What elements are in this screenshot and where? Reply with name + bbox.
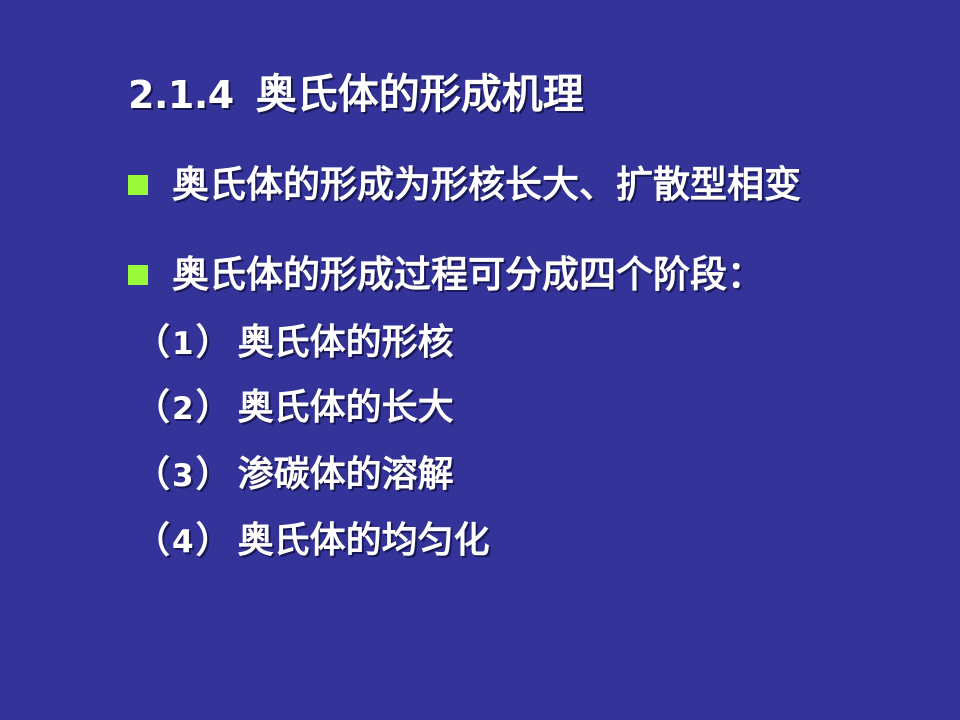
stage-number: 1: [170, 322, 196, 366]
stage-list-item-3: （ 3 ） 渗碳体的溶解: [134, 452, 454, 498]
stage-label: 渗碳体的溶解: [238, 452, 454, 496]
stage-list-item-1: （ 1 ） 奥氏体的形核: [134, 320, 454, 366]
stage-list-item-2: （ 2 ） 奥氏体的长大: [134, 385, 454, 431]
stage-paren-close: ）: [196, 518, 232, 562]
stage-label: 奥氏体的形核: [238, 320, 454, 364]
stage-list-item-4: （ 4 ） 奥氏体的均匀化: [134, 518, 490, 564]
stage-paren-open: （: [134, 452, 170, 496]
stage-paren-close: ）: [196, 320, 232, 364]
title-section-number: 2.1.4: [128, 73, 234, 117]
green-square-bullet-icon: [128, 175, 148, 195]
stage-number: 3: [170, 454, 196, 498]
bullet-item-2-label: 奥氏体的形成过程可分成四个阶段：: [172, 252, 764, 296]
title-heading-text: 奥氏体的形成机理: [256, 60, 584, 120]
stage-paren-open: （: [134, 385, 170, 429]
bullet-item-2: 奥氏体的形成过程可分成四个阶段：: [128, 252, 764, 296]
stage-number: 2: [170, 387, 196, 431]
green-square-bullet-icon: [128, 265, 148, 285]
presentation-slide: 2.1.4 奥氏体的形成机理 奥氏体的形成为形核长大、扩散型相变 奥氏体的形成过…: [0, 0, 960, 720]
stage-label: 奥氏体的长大: [238, 385, 454, 429]
page-title: 2.1.4 奥氏体的形成机理: [128, 60, 918, 120]
stage-label: 奥氏体的均匀化: [238, 518, 490, 562]
bullet-item-1-label: 奥氏体的形成为形核长大、扩散型相变: [172, 162, 801, 206]
stage-paren-open: （: [134, 320, 170, 364]
stage-paren-close: ）: [196, 452, 232, 496]
stage-paren-close: ）: [196, 385, 232, 429]
stage-number: 4: [170, 520, 196, 564]
stage-paren-open: （: [134, 518, 170, 562]
bullet-item-1: 奥氏体的形成为形核长大、扩散型相变: [128, 162, 801, 206]
